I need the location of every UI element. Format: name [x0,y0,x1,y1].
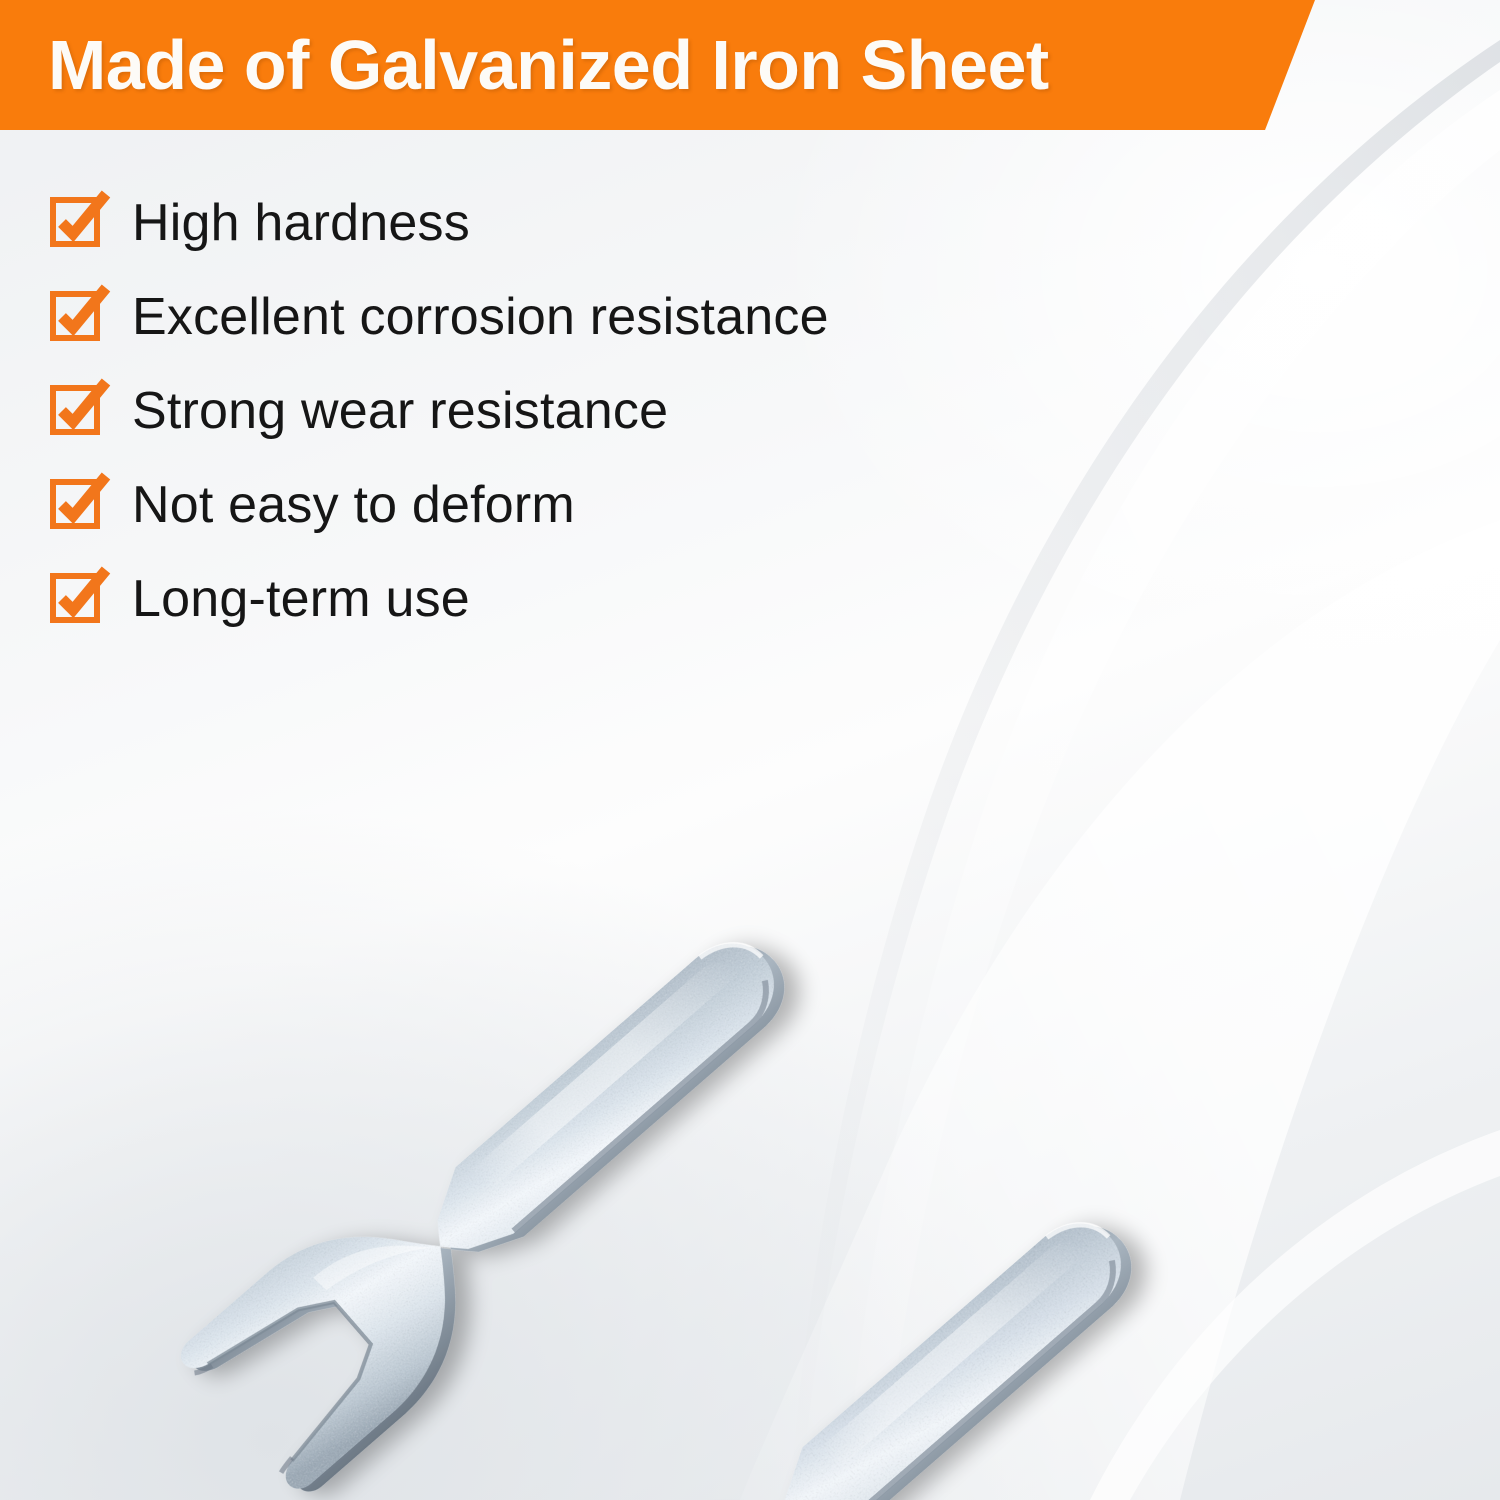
feature-label: High hardness [132,197,470,249]
checkbox-checked-icon [50,571,106,627]
wrench-2 [522,1167,1187,1500]
product-photo [0,520,1500,1500]
wrench-1 [175,887,840,1500]
list-item: Long-term use [50,552,1050,646]
feature-label: Not easy to deform [132,479,575,531]
checkbox-checked-icon [50,383,106,439]
feature-label: Excellent corrosion resistance [132,291,829,343]
product-marketing-image: Made of Galvanized Iron Sheet High hardn… [0,0,1500,1500]
header-banner: Made of Galvanized Iron Sheet [0,0,1315,130]
list-item: Not easy to deform [50,458,1050,552]
feature-label: Long-term use [132,573,470,625]
feature-label: Strong wear resistance [132,385,668,437]
list-item: High hardness [50,176,1050,270]
checkbox-checked-icon [50,477,106,533]
checkbox-checked-icon [50,289,106,345]
feature-list: High hardness Excellent corrosion resist… [50,176,1050,646]
list-item: Excellent corrosion resistance [50,270,1050,364]
list-item: Strong wear resistance [50,364,1050,458]
checkbox-checked-icon [50,195,106,251]
page-title: Made of Galvanized Iron Sheet [48,30,1049,100]
